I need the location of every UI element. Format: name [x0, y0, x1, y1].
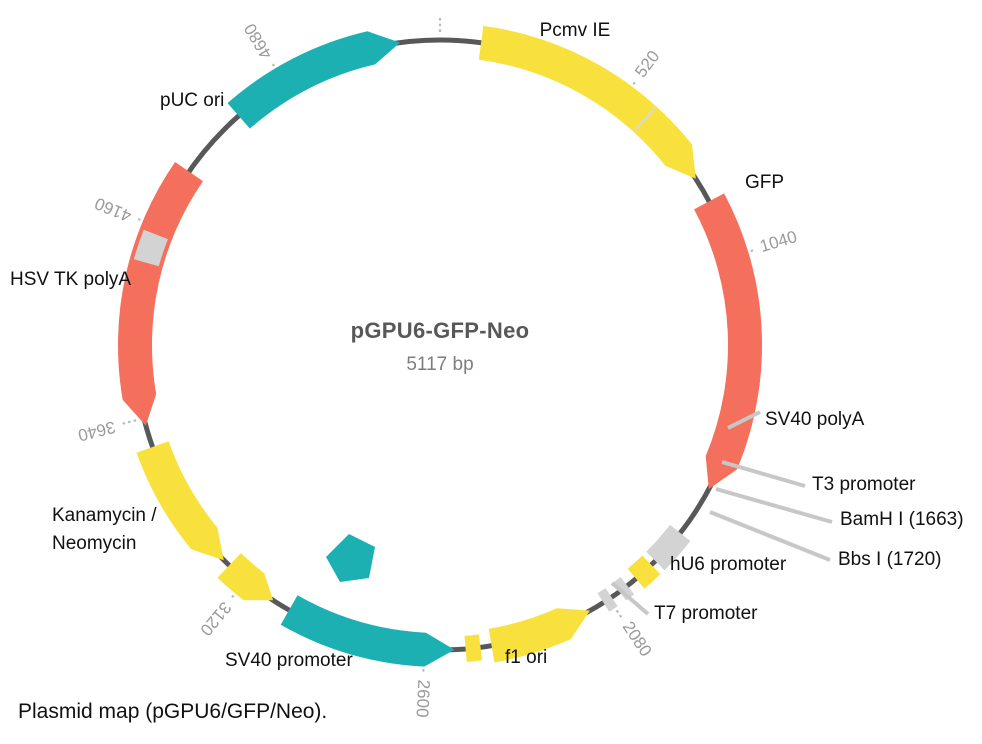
inner-feature-pentagon — [326, 534, 375, 582]
tick-label-text: 4160 — [92, 193, 134, 225]
tick-label: 1040 — [758, 227, 800, 256]
tick-label-text: 3120 — [196, 598, 235, 639]
feature-t7-promoter — [465, 634, 483, 662]
tick-mark — [123, 420, 137, 423]
t7-promoter-label: T7 promoter — [654, 603, 758, 624]
tick-label-text: 1040 — [758, 227, 800, 256]
tick-label-text: 3640 — [76, 417, 117, 445]
feature-bbs-i — [598, 588, 618, 612]
tick-label: 4680 — [240, 20, 276, 62]
figure-caption: Plasmid map (pGPU6/GFP/Neo). — [18, 700, 327, 724]
feature-kanamycin-neomycin — [118, 162, 203, 426]
plasmid-size: 5117 bp — [406, 354, 473, 375]
tick-label: 2080 — [619, 618, 656, 660]
leader-bbsi — [710, 512, 830, 560]
leader-t3-promoter — [722, 462, 805, 486]
f1-ori-label: f1 ori — [505, 647, 547, 668]
kanamycin-label-2: Neomycin — [52, 533, 136, 554]
tick-label-text: 520 — [631, 47, 663, 81]
plasmid-diagram: 5201040208026003120364041604680 Pcmv IEG… — [0, 0, 982, 744]
bamhi-label: BamH I (1663) — [840, 509, 964, 530]
tick-label-text: 2600 — [413, 679, 434, 718]
features-group — [118, 26, 762, 667]
kanamycin-label-1: Kanamycin / — [52, 505, 157, 526]
tick-label-text: 2080 — [619, 618, 656, 660]
feature-sv40-promoter — [137, 441, 224, 560]
t3-promoter-label: T3 promoter — [812, 474, 916, 495]
gfp-label: GFP — [745, 172, 784, 193]
tick-label: 2600 — [413, 679, 434, 718]
feature-pcmv-ie — [479, 26, 696, 179]
plasmid-map-figure: 5201040208026003120364041604680 Pcmv IEG… — [0, 0, 982, 744]
leader-t7-promoter — [612, 583, 648, 614]
tick-label: 4160 — [92, 193, 134, 225]
hsv-tk-polya-label: HSV TK polyA — [10, 269, 131, 290]
tick-label: 520 — [631, 47, 663, 81]
tick-label: 3640 — [76, 417, 117, 445]
tick-label: 3120 — [196, 598, 235, 639]
pcmv-ie-label: Pcmv IE — [540, 20, 611, 41]
feature-gfp — [694, 193, 762, 489]
tick-label-text: 4680 — [240, 20, 276, 62]
plasmid-name: pGPU6-GFP-Neo — [351, 318, 530, 343]
puc-ori-label: pUC ori — [160, 90, 224, 111]
sv40-polya-label: SV40 polyA — [765, 409, 865, 430]
bbsi-label: Bbs I (1720) — [838, 549, 942, 570]
sv40-promoter-label: SV40 promoter — [225, 650, 353, 671]
hu6-promoter-label: hU6 promoter — [670, 554, 787, 575]
